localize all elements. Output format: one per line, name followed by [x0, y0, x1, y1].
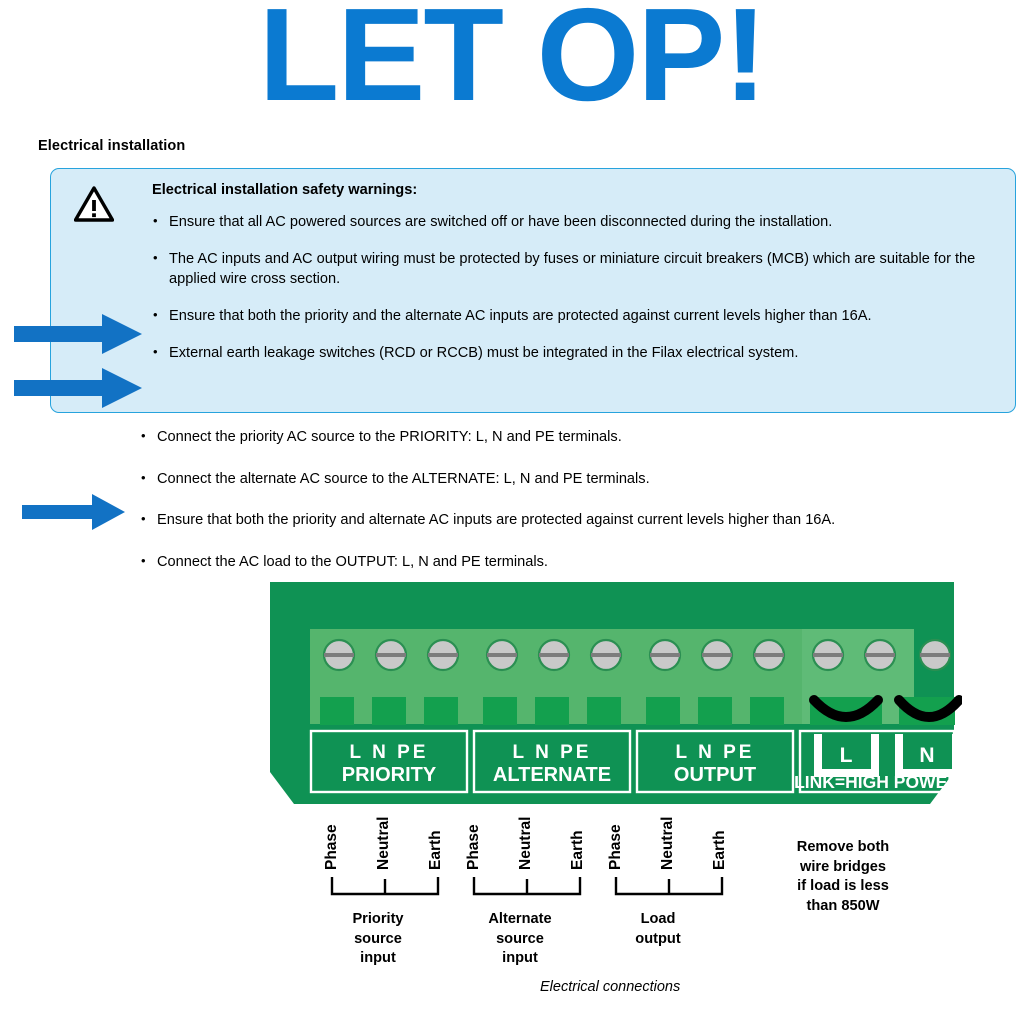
wire-slot	[320, 697, 354, 725]
instruction-list-item: Connect the AC load to the OUTPUT: L, N …	[140, 552, 990, 573]
wire-slot	[587, 697, 621, 725]
group-caption-priority: Priority source input	[320, 910, 436, 969]
group-caption-load: Load output	[600, 910, 716, 949]
link-letter-n: N	[919, 744, 934, 767]
group-bracket	[332, 877, 722, 894]
section-heading: Electrical installation	[38, 138, 185, 154]
group-caption-line: output	[600, 930, 716, 950]
screw-terminal	[539, 640, 569, 670]
remove-note-line: than 850W	[757, 897, 929, 917]
screw-terminal	[920, 640, 950, 670]
wire-slot	[424, 697, 458, 725]
warning-list-item: External earth leakage switches (RCD or …	[152, 343, 990, 364]
group-caption-line: input	[462, 949, 578, 969]
wire-slot	[535, 697, 569, 725]
group-caption-line: Load	[600, 910, 716, 930]
instruction-list: Connect the priority AC source to the PR…	[140, 427, 990, 594]
pointer-arrow-icon	[14, 314, 142, 354]
group-caption-line: source	[462, 930, 578, 950]
screw-terminal	[813, 640, 843, 670]
output-pins: L N PE	[676, 742, 755, 763]
warning-list-item: The AC inputs and AC output wiring must …	[152, 249, 990, 290]
link-caption: LINK=HIGH POWER	[794, 772, 960, 792]
remove-note-line: wire bridges	[757, 858, 929, 878]
pin-label-phase: Phase	[465, 824, 482, 870]
warning-box-list: Ensure that all AC powered sources are s…	[152, 212, 990, 380]
pin-label-phase: Phase	[607, 824, 624, 870]
group-caption-line: input	[320, 949, 436, 969]
screw-terminal	[376, 640, 406, 670]
group-caption-alternate: Alternate source input	[462, 910, 578, 969]
link-letter-l: L	[840, 744, 853, 767]
page-title: LET OP!	[0, 0, 1024, 125]
group-caption-line: source	[320, 930, 436, 950]
pointer-arrow-icon	[22, 494, 125, 530]
screw-terminal	[324, 640, 354, 670]
wire-slot	[646, 697, 680, 725]
warning-list-item: Ensure that both the priority and the al…	[152, 306, 990, 327]
instruction-list-item: Connect the alternate AC source to the A…	[140, 469, 990, 490]
alternate-pins: L N PE	[513, 742, 592, 763]
wire-slot	[750, 697, 784, 725]
priority-pins: L N PE	[350, 742, 429, 763]
output-name: OUTPUT	[674, 764, 756, 786]
screw-terminal	[865, 640, 895, 670]
warning-box-title: Electrical installation safety warnings:	[152, 182, 417, 198]
figure-caption: Electrical connections	[540, 979, 680, 995]
pin-label-earth: Earth	[569, 830, 586, 870]
pin-label-phase: Phase	[323, 824, 340, 870]
instruction-list-item: Ensure that both the priority and altern…	[140, 510, 990, 531]
remove-note-line: if load is less	[757, 877, 929, 897]
wire-slot	[698, 697, 732, 725]
remove-note-line: Remove both	[757, 838, 929, 858]
wire-slot	[483, 697, 517, 725]
pin-label-earth: Earth	[711, 830, 728, 870]
remove-bridges-note: Remove both wire bridges if load is less…	[757, 838, 929, 916]
pin-label-neutral: Neutral	[517, 817, 534, 870]
group-caption-line: Priority	[320, 910, 436, 930]
screw-terminal	[754, 640, 784, 670]
group-caption-line: Alternate	[462, 910, 578, 930]
warning-triangle-icon	[74, 186, 114, 222]
pin-label-earth: Earth	[427, 830, 444, 870]
alternate-name: ALTERNATE	[493, 764, 611, 786]
wire-slot	[372, 697, 406, 725]
warning-list-item: Ensure that all AC powered sources are s…	[152, 212, 990, 233]
instruction-list-item: Connect the priority AC source to the PR…	[140, 427, 990, 448]
pin-label-neutral: Neutral	[659, 817, 676, 870]
pin-label-neutral: Neutral	[375, 817, 392, 870]
pointer-arrow-icon	[14, 368, 142, 408]
screw-terminal	[428, 640, 458, 670]
screw-terminal	[650, 640, 680, 670]
screw-terminal	[702, 640, 732, 670]
priority-name: PRIORITY	[342, 764, 437, 786]
screw-terminal	[487, 640, 517, 670]
screw-terminal	[591, 640, 621, 670]
